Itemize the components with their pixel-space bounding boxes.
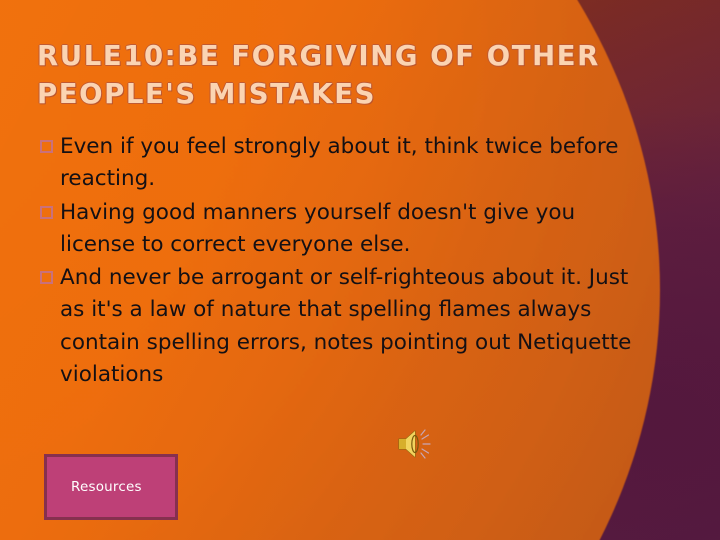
- slide-content: RULE10:BE FORGIVING OF OTHER PEOPLE'S MI…: [0, 0, 720, 540]
- presentation-slide: RULE10:BE FORGIVING OF OTHER PEOPLE'S MI…: [0, 0, 720, 540]
- square-bullet-icon: [40, 271, 53, 284]
- list-item-text: And never be arrogant or self-righteous …: [60, 262, 640, 391]
- square-bullet-icon: [40, 140, 53, 153]
- resources-button[interactable]: Resources: [44, 454, 178, 520]
- resources-button-label: Resources: [47, 479, 142, 495]
- list-item: And never be arrogant or self-righteous …: [40, 262, 640, 391]
- speaker-icon[interactable]: [396, 427, 442, 461]
- list-item-text: Having good manners yourself doesn't giv…: [60, 197, 640, 262]
- list-item-text: Even if you feel strongly about it, thin…: [60, 131, 640, 196]
- slide-title: RULE10:BE FORGIVING OF OTHER PEOPLE'S MI…: [37, 38, 647, 114]
- square-bullet-icon: [40, 206, 53, 219]
- list-item: Having good manners yourself doesn't giv…: [40, 197, 640, 262]
- bullet-list: Even if you feel strongly about it, thin…: [40, 131, 640, 392]
- list-item: Even if you feel strongly about it, thin…: [40, 131, 640, 196]
